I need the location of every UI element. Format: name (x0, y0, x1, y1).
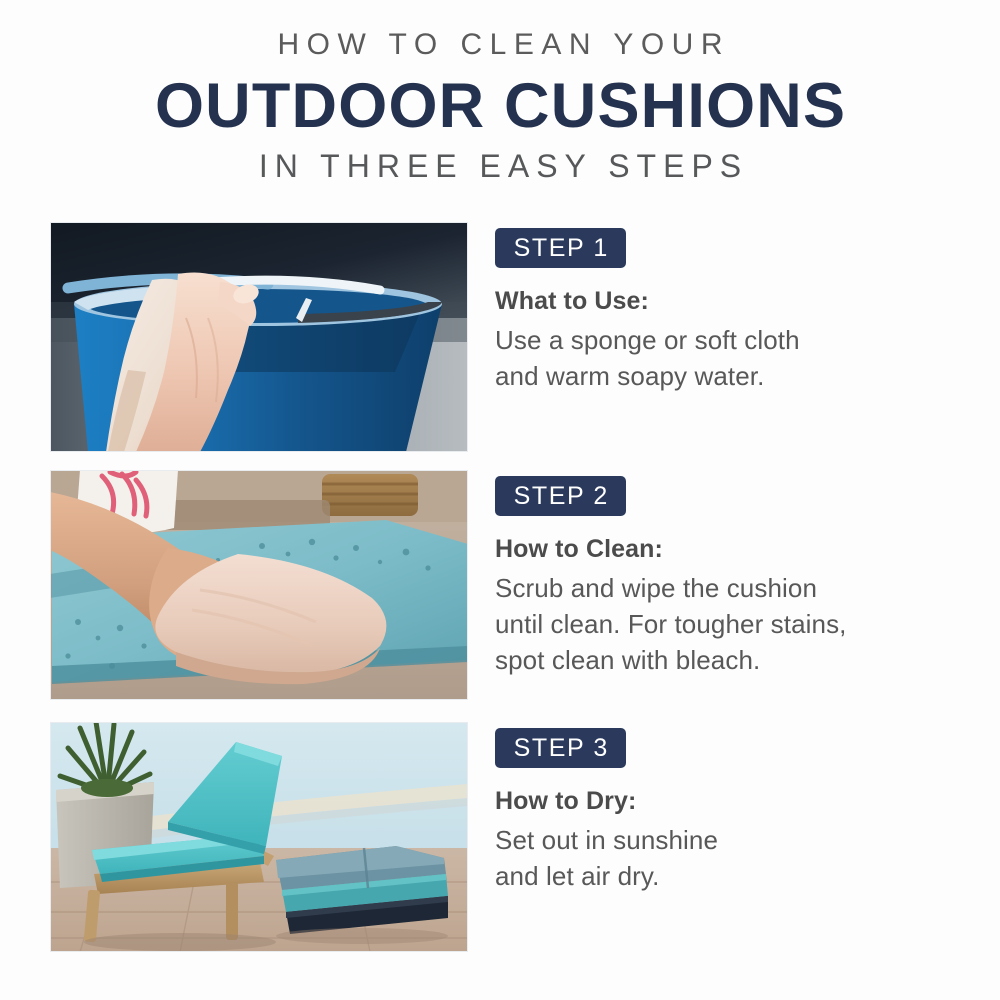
step-1-heading: What to Use: (495, 286, 950, 316)
step-1-text: STEP 1 What to Use: Use a sponge or soft… (495, 222, 950, 394)
photo-scrubbing-cushion (50, 470, 468, 700)
page-title: OUTDOOR CUSHIONS (0, 70, 1000, 142)
header-eyebrow: HOW TO CLEAN YOUR (0, 26, 1000, 64)
step-1-body: Use a sponge or soft cloth and warm soap… (495, 322, 950, 394)
photo-bucket-and-cloth (50, 222, 468, 452)
scrubbing-illustration (50, 470, 468, 700)
step-row-2: STEP 2 How to Clean: Scrub and wipe the … (50, 470, 950, 700)
infographic-page: HOW TO CLEAN YOUR OUTDOOR CUSHIONS IN TH… (0, 0, 1000, 1000)
chaise-lounge-illustration (50, 722, 468, 952)
step-row-1: STEP 1 What to Use: Use a sponge or soft… (50, 222, 950, 452)
page-header: HOW TO CLEAN YOUR OUTDOOR CUSHIONS IN TH… (0, 0, 1000, 186)
step-1-badge: STEP 1 (495, 228, 626, 268)
photo-chaise-lounge-drying (50, 722, 468, 952)
step-row-3: STEP 3 How to Dry: Set out in sunshine a… (50, 722, 950, 952)
step-2-body: Scrub and wipe the cushion until clean. … (495, 570, 950, 678)
step-2-text: STEP 2 How to Clean: Scrub and wipe the … (495, 470, 950, 678)
step-3-badge: STEP 3 (495, 728, 626, 768)
step-3-body: Set out in sunshine and let air dry. (495, 822, 950, 894)
step-3-heading: How to Dry: (495, 786, 950, 816)
bucket-illustration (50, 222, 468, 452)
step-2-badge: STEP 2 (495, 476, 626, 516)
step-2-heading: How to Clean: (495, 534, 950, 564)
step-3-text: STEP 3 How to Dry: Set out in sunshine a… (495, 722, 950, 894)
header-subtitle: IN THREE EASY STEPS (0, 146, 1000, 186)
